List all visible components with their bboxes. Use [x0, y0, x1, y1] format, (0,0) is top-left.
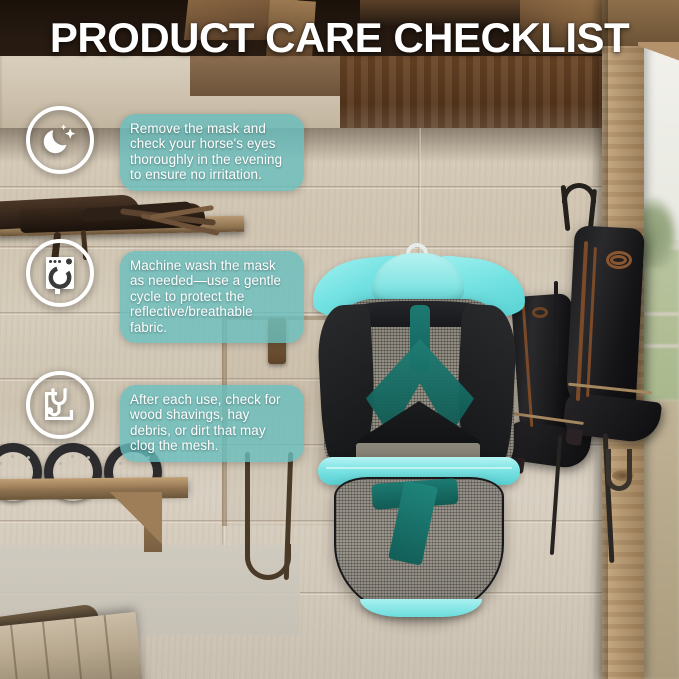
page-title: PRODUCT CARE CHECKLIST [0, 14, 679, 62]
checklist-item-3-text: After each use, check for wood shavings,… [120, 385, 304, 462]
mask-bottom-trim [360, 599, 482, 617]
shelf-bracket [144, 492, 162, 552]
boot-wall-bracket [606, 449, 632, 491]
boot-logo-crest [610, 255, 627, 265]
checklist-item-1-text: Remove the mask and check your horse's e… [120, 114, 304, 191]
boot-logo-crest [532, 307, 548, 318]
boot-pull-strap [554, 281, 558, 367]
inspection-stethoscope-icon [26, 371, 94, 439]
washing-machine-icon [26, 239, 94, 307]
boot-heel [565, 428, 583, 446]
product-care-infographic: PRODUCT CARE CHECKLIST Remove the mask a… [0, 0, 679, 679]
wall-timber-patch [190, 56, 350, 96]
moon-stars-icon [26, 106, 94, 174]
riding-boots [510, 185, 660, 485]
checklist-item-2-text: Machine wash the mask as needed—use a ge… [120, 251, 304, 343]
mask-band-seam [326, 467, 512, 469]
horse-fly-mask-product [318, 243, 528, 628]
